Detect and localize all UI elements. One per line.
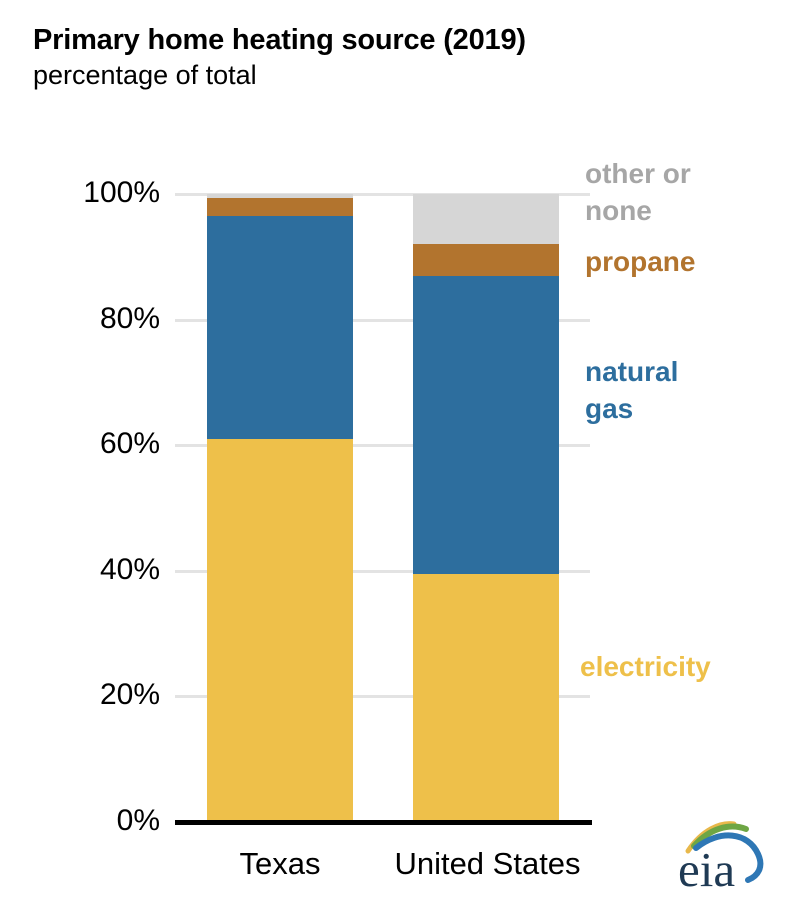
bar-segment-us-electricity[interactable] bbox=[413, 574, 559, 822]
y-tick-20: 20% bbox=[28, 680, 160, 710]
bar-segment-us-natural-gas[interactable] bbox=[413, 276, 559, 574]
x-axis-label-texas: Texas bbox=[190, 845, 370, 883]
legend-label-electricity: electricity bbox=[580, 648, 711, 685]
chart-canvas: 100% 80% 60% 40% 20% 0% Texas United Sta… bbox=[0, 0, 800, 908]
bar-texas[interactable] bbox=[207, 194, 353, 822]
bar-segment-texas-natural-gas[interactable] bbox=[207, 216, 353, 439]
bar-segment-texas-electricity[interactable] bbox=[207, 439, 353, 822]
y-tick-40: 40% bbox=[28, 555, 160, 585]
y-tick-100: 100% bbox=[28, 178, 160, 208]
y-tick-60: 60% bbox=[28, 429, 160, 459]
legend-label-natural-gas-line1: natural bbox=[585, 353, 678, 390]
bar-segment-us-other-or-none[interactable] bbox=[413, 194, 559, 244]
legend-label-other-or-none-line2: none bbox=[585, 192, 691, 229]
legend-label-other-or-none: other or none bbox=[585, 155, 691, 229]
y-tick-80: 80% bbox=[28, 304, 160, 334]
plot-area bbox=[175, 194, 590, 822]
legend-label-natural-gas: natural gas bbox=[585, 353, 678, 427]
bar-segment-texas-propane[interactable] bbox=[207, 198, 353, 216]
legend-label-other-or-none-line1: other or bbox=[585, 155, 691, 192]
bar-united-states[interactable] bbox=[413, 194, 559, 822]
bar-segment-us-propane[interactable] bbox=[413, 244, 559, 275]
y-axis-tick-labels: 100% 80% 60% 40% 20% 0% bbox=[20, 0, 160, 908]
x-axis-line bbox=[175, 820, 592, 825]
eia-logo: eia bbox=[672, 818, 784, 898]
eia-wordmark: eia bbox=[678, 842, 735, 897]
legend-label-natural-gas-line2: gas bbox=[585, 390, 678, 427]
legend-label-propane: propane bbox=[585, 243, 695, 280]
x-axis-label-united-states: United States bbox=[370, 845, 605, 883]
y-tick-0: 0% bbox=[28, 806, 160, 836]
